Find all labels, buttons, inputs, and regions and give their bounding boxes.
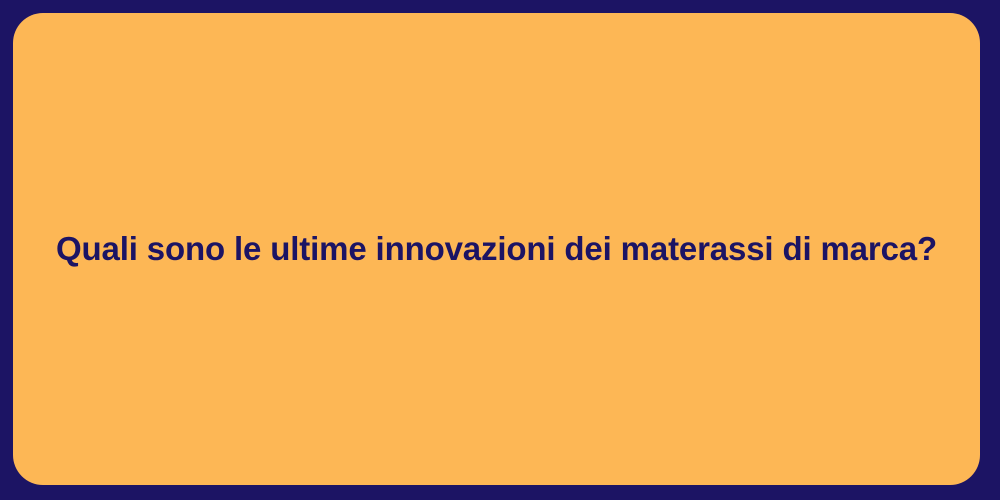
question-card: Quali sono le ultime innovazioni dei mat… — [13, 13, 980, 485]
page-background: Quali sono le ultime innovazioni dei mat… — [0, 0, 1000, 500]
headline-question-text: Quali sono le ultime innovazioni dei mat… — [13, 228, 980, 269]
